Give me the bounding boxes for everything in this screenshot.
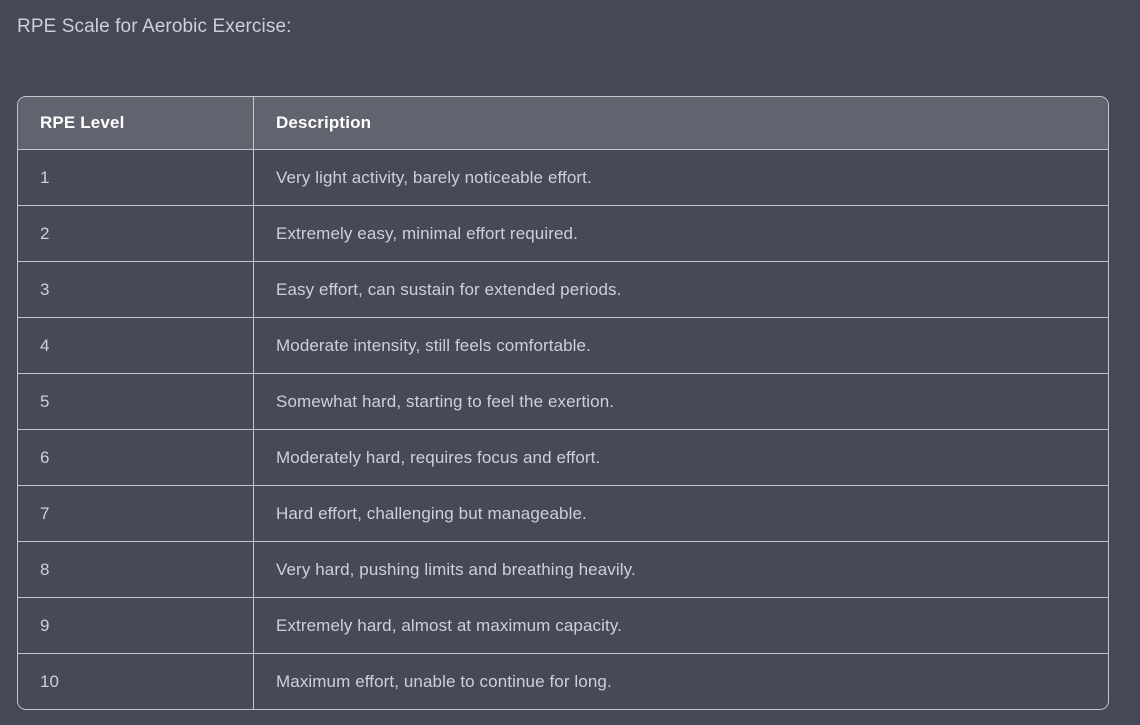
table-header: RPE Level Description xyxy=(18,97,1108,150)
cell-rpe-level: 10 xyxy=(18,654,253,709)
table-row: 2 Extremely easy, minimal effort require… xyxy=(18,206,1108,262)
cell-description: Extremely hard, almost at maximum capaci… xyxy=(253,598,1108,654)
table-row: 7 Hard effort, challenging but manageabl… xyxy=(18,486,1108,542)
table-row: 3 Easy effort, can sustain for extended … xyxy=(18,262,1108,318)
cell-description: Very hard, pushing limits and breathing … xyxy=(253,542,1108,598)
table-row: 6 Moderately hard, requires focus and ef… xyxy=(18,430,1108,486)
table-body: 1 Very light activity, barely noticeable… xyxy=(18,150,1108,709)
cell-description: Moderately hard, requires focus and effo… xyxy=(253,430,1108,486)
table-row: 10 Maximum effort, unable to continue fo… xyxy=(18,654,1108,709)
cell-rpe-level: 4 xyxy=(18,318,253,374)
cell-rpe-level: 1 xyxy=(18,150,253,206)
table-row: 1 Very light activity, barely noticeable… xyxy=(18,150,1108,206)
cell-rpe-level: 2 xyxy=(18,206,253,262)
cell-description: Extremely easy, minimal effort required. xyxy=(253,206,1108,262)
cell-rpe-level: 5 xyxy=(18,374,253,430)
cell-rpe-level: 7 xyxy=(18,486,253,542)
table-row: 5 Somewhat hard, starting to feel the ex… xyxy=(18,374,1108,430)
table-row: 8 Very hard, pushing limits and breathin… xyxy=(18,542,1108,598)
cell-description: Somewhat hard, starting to feel the exer… xyxy=(253,374,1108,430)
table-row: 4 Moderate intensity, still feels comfor… xyxy=(18,318,1108,374)
cell-rpe-level: 3 xyxy=(18,262,253,318)
page-title: RPE Scale for Aerobic Exercise: xyxy=(17,14,292,40)
column-header-description: Description xyxy=(253,97,1108,150)
cell-description: Very light activity, barely noticeable e… xyxy=(253,150,1108,206)
cell-description: Moderate intensity, still feels comforta… xyxy=(253,318,1108,374)
cell-rpe-level: 9 xyxy=(18,598,253,654)
column-header-rpe-level: RPE Level xyxy=(18,97,253,150)
cell-description: Hard effort, challenging but manageable. xyxy=(253,486,1108,542)
cell-description: Easy effort, can sustain for extended pe… xyxy=(253,262,1108,318)
table-row: 9 Extremely hard, almost at maximum capa… xyxy=(18,598,1108,654)
cell-description: Maximum effort, unable to continue for l… xyxy=(253,654,1108,709)
cell-rpe-level: 6 xyxy=(18,430,253,486)
cell-rpe-level: 8 xyxy=(18,542,253,598)
rpe-scale-table: RPE Level Description 1 Very light activ… xyxy=(17,96,1109,710)
rpe-table-container: RPE Level Description 1 Very light activ… xyxy=(17,96,1109,710)
table-header-row: RPE Level Description xyxy=(18,97,1108,150)
page-root: RPE Scale for Aerobic Exercise: RPE Leve… xyxy=(0,0,1140,725)
